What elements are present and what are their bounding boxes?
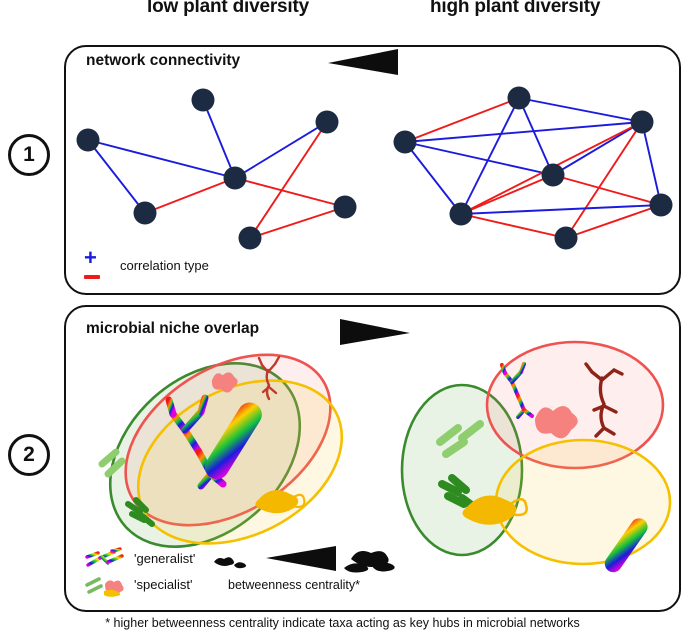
network-edge-positive xyxy=(519,98,642,122)
network-edge-positive xyxy=(519,98,553,175)
network-edge-positive xyxy=(203,100,235,178)
network-graphs xyxy=(0,0,685,300)
legend-correlation-type-label: correlation type xyxy=(120,258,209,273)
network-edge-negative xyxy=(250,207,345,238)
network-edge-negative xyxy=(553,175,661,205)
legend-specialist-label: 'specialist' xyxy=(134,577,192,592)
network-node xyxy=(508,87,531,110)
network-edge-negative xyxy=(235,178,345,207)
network-node xyxy=(192,89,215,112)
network-edge-negative xyxy=(461,214,566,238)
network-node xyxy=(316,111,339,134)
legend-generalist-label: 'generalist' xyxy=(134,551,195,566)
network-node xyxy=(394,131,417,154)
network-edge-positive xyxy=(235,122,327,178)
network-edge-positive xyxy=(88,140,145,213)
network-edge-negative xyxy=(405,98,519,142)
network-edge-negative xyxy=(250,122,327,238)
network-node xyxy=(555,227,578,250)
network-node xyxy=(77,129,100,152)
network-edge-positive xyxy=(405,122,642,142)
network-edge-positive xyxy=(642,122,661,205)
network-node xyxy=(542,164,565,187)
legend-betweenness-centrality-label: betweenness centrality* xyxy=(228,578,360,592)
niche-ellipse-yellow-niche xyxy=(496,440,670,564)
network-node xyxy=(650,194,673,217)
network-edge-positive xyxy=(88,140,235,178)
figure-footnote: * higher betweenness centrality indicate… xyxy=(0,616,685,630)
network-edge-negative xyxy=(566,122,642,238)
network-edge-negative xyxy=(461,175,553,214)
network-edge-negative xyxy=(145,178,235,213)
niche-overlap-graphics xyxy=(0,330,685,550)
figure-canvas: low plant diversity high plant diversity… xyxy=(0,0,685,637)
generalist-icon xyxy=(84,547,128,569)
legend-negative-symbol xyxy=(84,275,100,279)
network-edge-positive xyxy=(461,205,661,214)
legend-positive-symbol: + xyxy=(84,247,97,269)
network-node xyxy=(224,167,247,190)
network-node xyxy=(334,196,357,219)
network-node xyxy=(134,202,157,225)
betweenness-centrality-icon xyxy=(208,544,398,574)
network-node xyxy=(450,203,473,226)
network-edge-positive xyxy=(553,122,642,175)
specialist-icon xyxy=(84,573,132,597)
network-node xyxy=(239,227,262,250)
network-edge-negative xyxy=(566,205,661,238)
network-node xyxy=(631,111,654,134)
